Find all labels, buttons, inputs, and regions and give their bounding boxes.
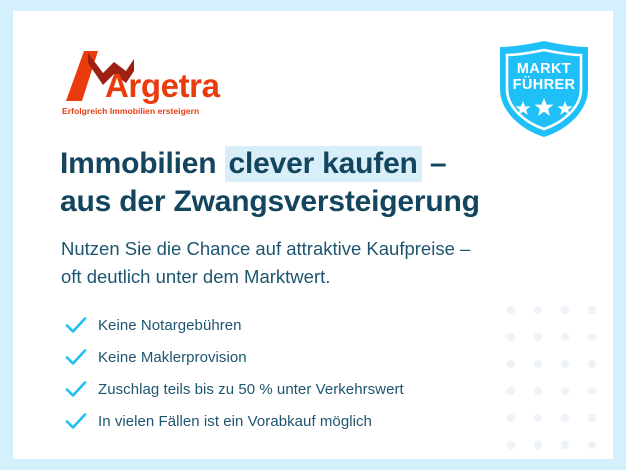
check-icon	[63, 376, 89, 402]
page-title: Immobilien clever kaufen – aus der Zwang…	[60, 145, 560, 220]
list-item: Keine Notargebühren	[63, 309, 533, 341]
benefits-list: Keine Notargebühren Keine Maklerprovisio…	[63, 309, 533, 437]
list-item: Keine Maklerprovision	[63, 341, 533, 373]
promo-banner: Argetra Erfolgreich Immobilien ersteiger…	[0, 0, 626, 470]
list-item-label: In vielen Fällen ist ein Vorabkauf mögli…	[98, 413, 372, 430]
logo-wordmark: Argetra	[105, 69, 220, 102]
list-item-label: Zuschlag teils bis zu 50 % unter Verkehr…	[98, 381, 404, 398]
list-item: In vielen Fällen ist ein Vorabkauf mögli…	[63, 405, 533, 437]
headline-highlight: clever kaufen	[225, 146, 422, 182]
subtitle: Nutzen Sie die Chance auf attraktive Kau…	[61, 235, 561, 291]
check-icon	[63, 344, 89, 370]
checkmark-glyph	[65, 411, 87, 431]
headline-line-1: Immobilien clever kaufen –	[60, 145, 560, 183]
list-item-label: Keine Maklerprovision	[98, 349, 247, 366]
check-icon	[63, 408, 89, 434]
checkmark-glyph	[65, 315, 87, 335]
headline-line-2: aus der Zwangsversteigerung	[60, 183, 560, 221]
subtitle-line-2: oft deutlich unter dem Marktwert.	[61, 263, 561, 291]
checkmark-glyph	[65, 379, 87, 399]
shield-badge-icon	[492, 39, 596, 139]
headline-text-after: –	[422, 147, 447, 180]
list-item-label: Keine Notargebühren	[98, 317, 242, 334]
market-leader-badge: MARKT FÜHRER	[492, 39, 596, 139]
logo-tagline: Erfolgreich Immobilien ersteigern	[62, 106, 199, 116]
white-card: Argetra Erfolgreich Immobilien ersteiger…	[13, 11, 613, 459]
subtitle-line-1: Nutzen Sie die Chance auf attraktive Kau…	[61, 235, 561, 263]
headline-text-before: Immobilien	[60, 147, 225, 180]
brand-logo[interactable]: Argetra Erfolgreich Immobilien ersteiger…	[58, 49, 248, 121]
list-item: Zuschlag teils bis zu 50 % unter Verkehr…	[63, 373, 533, 405]
check-icon	[63, 312, 89, 338]
checkmark-glyph	[65, 347, 87, 367]
